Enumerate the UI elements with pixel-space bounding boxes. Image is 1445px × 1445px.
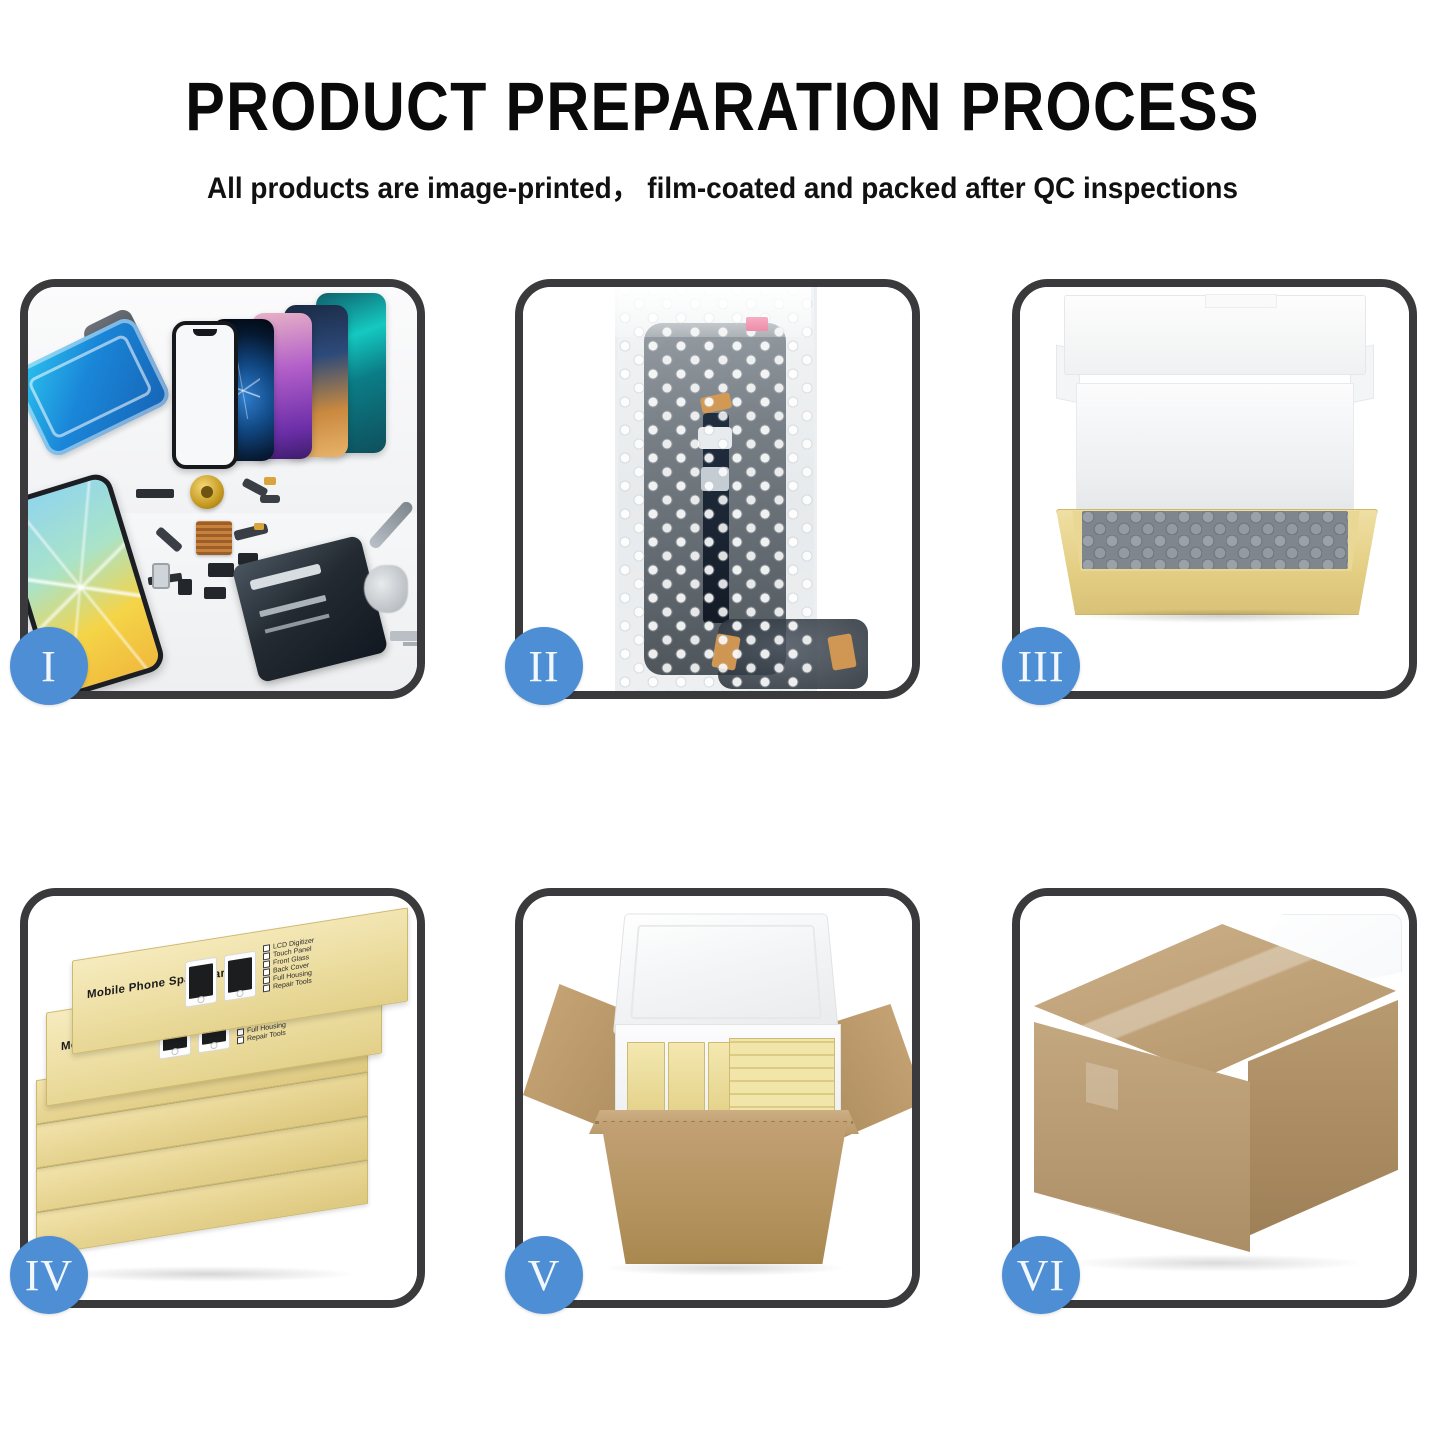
retail-box-phone-thumbnails: [185, 950, 256, 1007]
step-badge-5: V: [505, 1236, 583, 1314]
sleeve-top-glare: [615, 287, 811, 337]
white-box-lid: [1064, 295, 1366, 375]
retail-box-stack: Mobile Phone Spare Parts LCD Digitizer T…: [28, 924, 417, 1284]
retail-box-upright-1: [627, 1042, 665, 1116]
checkbox-icon: [263, 976, 270, 984]
stacked-retail-boxes-photo: Mobile Phone Spare Parts LCD Digitizer T…: [28, 896, 417, 1300]
checkbox-icon: [263, 960, 270, 968]
flex-cable-part-icon-2: [260, 495, 280, 503]
connector-part-icon-4: [178, 579, 192, 595]
sealed-carton-photo: [1020, 896, 1409, 1300]
spare-parts-collage-image: [28, 287, 417, 691]
white-foam-liner: [1076, 383, 1354, 521]
bubble-texture-overlay: [618, 287, 814, 691]
step-badge-2: II: [505, 627, 583, 705]
earpiece-speaker-part-icon: [136, 489, 174, 498]
front-glass-panel-icon: [172, 321, 238, 469]
copper-chip-part-icon: [196, 521, 232, 555]
cleaning-brush-icon: [364, 565, 408, 613]
tape-tab-icon-2: [1088, 1206, 1120, 1252]
open-mailer-box-photo: [1020, 287, 1409, 691]
step-badge-3: III: [1002, 627, 1080, 705]
gold-contact-part-icon-1: [264, 477, 276, 485]
carton-shadow-5: [603, 1260, 847, 1276]
checkbox-icon: [237, 1028, 244, 1036]
step-panel-1[interactable]: I: [20, 279, 425, 699]
step-image-1: [28, 287, 417, 691]
screws-part-icon: [390, 631, 417, 641]
step-image-5: [523, 896, 912, 1300]
step-badge-1: I: [10, 627, 88, 705]
fanned-screens-group: [168, 295, 417, 463]
step-panel-4[interactable]: Mobile Phone Spare Parts LCD Digitizer T…: [20, 888, 425, 1308]
tape-tab-icon-1: [1086, 1062, 1118, 1110]
retail-box-checklist: LCD Digitizer Touch Panel Front Glass Ba…: [263, 937, 314, 993]
connector-part-icon-3: [204, 587, 226, 599]
gray-bubble-wrap-fill: [1082, 511, 1348, 569]
bubble-wrap-sleeve: [615, 287, 817, 691]
checkbox-icon: [263, 984, 270, 992]
box-shadow-3: [1076, 609, 1366, 623]
checkbox-icon: [237, 1036, 244, 1044]
checkbox-icon: [263, 968, 270, 976]
step-badge-6: VI: [1002, 1236, 1080, 1314]
carton-body: [601, 1122, 847, 1264]
step-image-3: [1020, 287, 1409, 691]
gold-coil-part-icon: [190, 475, 224, 509]
checkbox-icon: [263, 944, 270, 952]
gold-contact-part-icon-2: [254, 523, 264, 530]
phone-thumbnail-icon-2: [224, 950, 256, 1001]
step-image-6: [1020, 896, 1409, 1300]
foam-box-lid: [613, 914, 839, 1035]
sim-tray-part-icon: [152, 563, 170, 589]
process-step-grid: I II: [0, 0, 1445, 1445]
phone-thumbnail-icon-1: [185, 957, 217, 1008]
checkbox-icon: [263, 952, 270, 960]
step-panel-6[interactable]: VI: [1012, 888, 1417, 1308]
step-badge-4: IV: [10, 1236, 88, 1314]
retail-boxes-row-right: [729, 1038, 835, 1120]
step-panel-5[interactable]: V: [515, 888, 920, 1308]
box-stack-shadow: [58, 1266, 358, 1282]
sealed-carton-group: [1026, 910, 1406, 1282]
carton-shadow-6: [1066, 1254, 1366, 1272]
step-panel-3[interactable]: III: [1012, 279, 1417, 699]
step-image-4: Mobile Phone Spare Parts LCD Digitizer T…: [28, 896, 417, 1300]
step-image-2: [523, 287, 912, 691]
connector-part-icon-1: [208, 563, 234, 577]
bubble-wrap-photo: [523, 287, 912, 691]
retail-box-upright-2: [668, 1042, 706, 1116]
step-panel-2[interactable]: II: [515, 279, 920, 699]
carton-loading-photo: [523, 896, 912, 1300]
